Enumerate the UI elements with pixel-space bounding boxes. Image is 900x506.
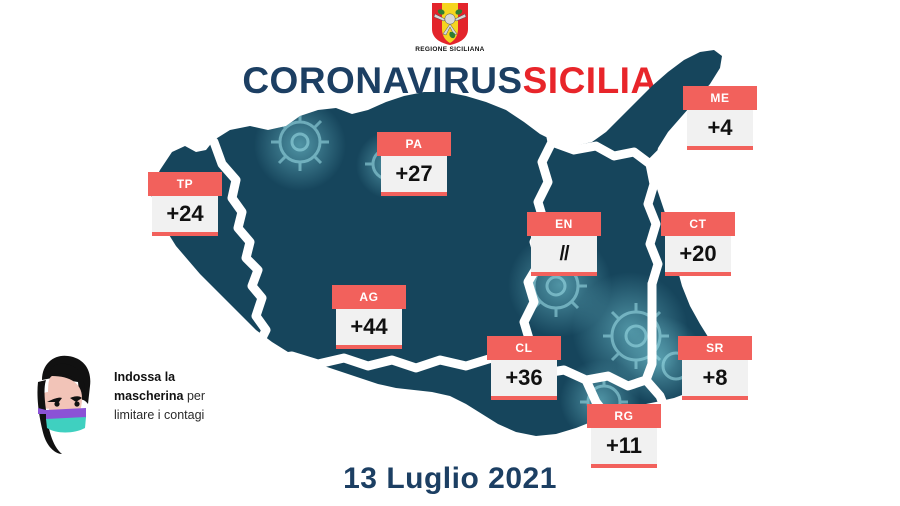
province-card-pa[interactable]: PA +27 [377, 132, 451, 200]
province-value-tp: +24 [152, 196, 218, 232]
province-value-me: +4 [687, 110, 753, 146]
province-value-ag: +44 [336, 309, 402, 345]
province-card-pa-frame: +27 [381, 156, 447, 196]
mask-notice: Indossa la mascherina per limitare i con… [22, 352, 262, 456]
province-card-cl[interactable]: CL +36 [487, 336, 561, 404]
infographic-root: REGIONE SICILIANA CORONAVIRUSSICILIA [0, 0, 900, 506]
province-card-me[interactable]: ME +4 [683, 86, 757, 154]
date-label: 13 Luglio 2021 [0, 462, 900, 496]
province-code-tp: TP [148, 172, 222, 196]
province-card-me-frame: +4 [687, 110, 753, 150]
province-code-rg: RG [587, 404, 661, 428]
province-code-en: EN [527, 212, 601, 236]
mask-notice-text: Indossa la mascherina per limitare i con… [114, 368, 264, 424]
province-value-en: // [531, 236, 597, 272]
province-card-en-frame: // [531, 236, 597, 276]
mask-notice-line2-rest: per [183, 389, 205, 403]
province-card-ag-frame: +44 [336, 309, 402, 349]
province-card-ct[interactable]: CT +20 [661, 212, 735, 280]
province-code-cl: CL [487, 336, 561, 360]
province-value-pa: +27 [381, 156, 447, 192]
province-code-sr: SR [678, 336, 752, 360]
mask-notice-line1: Indossa la [114, 370, 175, 384]
mask-notice-line3: limitare i contagi [114, 408, 204, 422]
province-value-ct: +20 [665, 236, 731, 272]
province-code-me: ME [683, 86, 757, 110]
province-code-ag: AG [332, 285, 406, 309]
province-card-cl-frame: +36 [491, 360, 557, 400]
province-card-ag[interactable]: AG +44 [332, 285, 406, 353]
province-card-tp-frame: +24 [152, 196, 218, 236]
province-card-sr[interactable]: SR +8 [678, 336, 752, 404]
province-card-sr-frame: +8 [682, 360, 748, 400]
province-card-tp[interactable]: TP +24 [148, 172, 222, 240]
province-code-ct: CT [661, 212, 735, 236]
province-code-pa: PA [377, 132, 451, 156]
province-card-en[interactable]: EN // [527, 212, 601, 280]
woman-wearing-face-mask-icon [22, 352, 108, 456]
province-value-rg: +11 [591, 428, 657, 464]
mask-notice-line2-bold: mascherina [114, 389, 183, 403]
province-value-sr: +8 [682, 360, 748, 396]
province-card-ct-frame: +20 [665, 236, 731, 276]
province-value-cl: +36 [491, 360, 557, 396]
